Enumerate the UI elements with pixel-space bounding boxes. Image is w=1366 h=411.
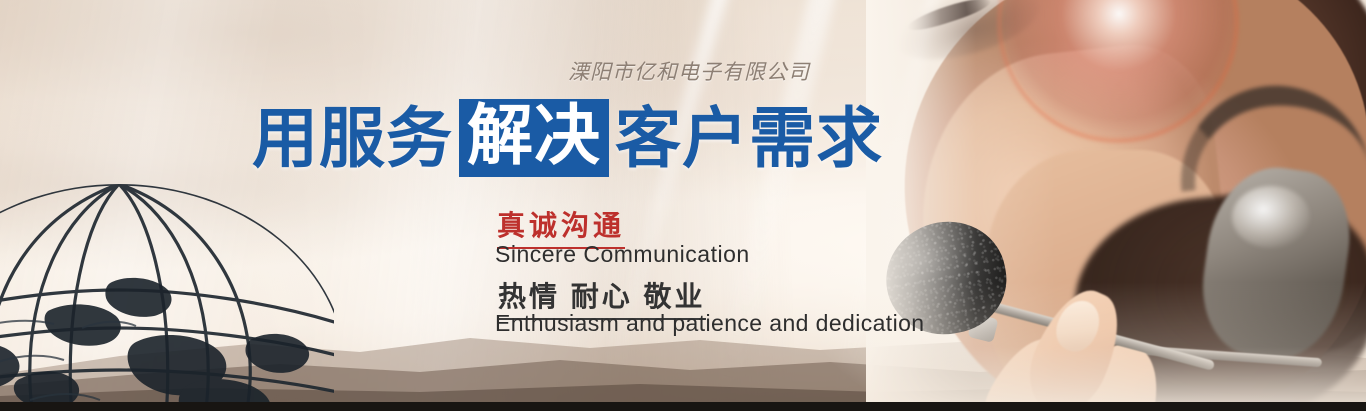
headline-after: 客户需求 [615,99,883,177]
headline-highlight: 解决 [459,99,609,177]
company-name: 溧阳市亿和电子有限公司 [568,56,810,86]
promotional-banner: 溧阳市亿和电子有限公司 用服务解决客户需求 真诚沟通 Sincere Commu… [0,0,1366,411]
headline: 用服务解决客户需求 [252,99,883,177]
tagline-2-en: Enthusiasm and patience and dedication [495,310,925,337]
tagline-1-en: Sincere Communication [495,241,750,268]
bottom-bar [0,402,1366,411]
banner-text-layer: 溧阳市亿和电子有限公司 用服务解决客户需求 真诚沟通 Sincere Commu… [0,0,1366,411]
headline-before: 用服务 [252,99,453,177]
